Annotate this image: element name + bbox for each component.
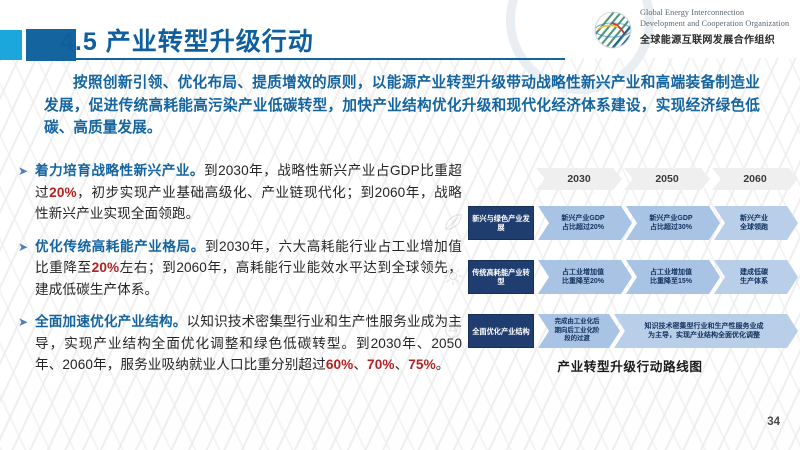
globe-icon — [592, 9, 634, 51]
roadmap-diagram: 2030 2050 2060 新兴与绿色产业发展 新兴产业GDP占比超过20% … — [462, 168, 798, 368]
year-chevron-2030: 2030 — [536, 168, 622, 190]
gear-icon — [442, 265, 464, 287]
bullet-marker-icon: ➤ — [18, 312, 28, 332]
bullet-lead: 全面加速优化产业结构。 — [35, 314, 187, 329]
logo-line-2: Development and Cooperation Organization — [640, 19, 792, 30]
bullet-lead: 着力培育战略性新兴产业。 — [35, 163, 204, 178]
roadmap-stage: 新兴产业GDP占比超过30% — [626, 206, 720, 240]
bullet-part-2: 。 — [436, 357, 450, 372]
roadmap-row-1: 新兴与绿色产业发展 新兴产业GDP占比超过20% 新兴产业GDP占比超过30% … — [462, 206, 798, 240]
page-title: 4.5 产业转型升级行动 — [60, 22, 314, 58]
list-item: ➤ 着力培育战略性新兴产业。到2030年，战略性新兴产业占GDP比重超过20%，… — [18, 160, 462, 225]
page-number: 34 — [767, 416, 780, 428]
timeline-years: 2030 2050 2060 — [536, 168, 798, 190]
header-square-cyan — [0, 30, 22, 60]
bullet-highlight-1: 20% — [92, 260, 120, 275]
bullet-lead: 优化传统高耗能产业格局。 — [35, 239, 205, 254]
intro-paragraph: 按照创新引领、优化布局、提质增效的原则，以能源产业转型升级带动战略性新兴产业和高… — [44, 72, 760, 140]
roadmap-row-label: 新兴与绿色产业发展 — [468, 206, 534, 240]
roadmap-row-2: 传统高耗能产业转型 占工业增加值比重降至20% 占工业增加值比重降至15% 建成… — [462, 260, 798, 294]
list-item: ➤ 全面加速优化产业结构。以知识技术密集型行业和生产性服务业成为主导，实现产业结… — [18, 311, 462, 376]
roadmap-row-label: 全面优化产业结构 — [468, 314, 534, 348]
bullet-text: 全面加速优化产业结构。以知识技术密集型行业和生产性服务业成为主导，实现产业结构全… — [35, 311, 462, 376]
roadmap-stage: 新兴产业GDP占比超过20% — [538, 206, 632, 240]
roadmap-row-3: 全面优化产业结构 完成由工业化后期向后工业化阶段的过渡 知识技术密集型行业和生产… — [462, 314, 798, 348]
roadmap-stage: 占工业增加值比重降至15% — [626, 260, 720, 294]
slide-header: 4.5 产业转型升级行动 — [0, 0, 800, 62]
year-chevron-2050: 2050 — [624, 168, 710, 190]
bullet-list: ➤ 着力培育战略性新兴产业。到2030年，战略性新兴产业占GDP比重超过20%，… — [18, 160, 462, 387]
bullet-text: 优化传统高耗能产业格局。到2030年，六大高耗能行业占工业增加值比重降至20%左… — [35, 236, 462, 301]
leaf-icon — [442, 211, 464, 233]
roadmap-stage: 新兴产业全球领跑 — [714, 206, 798, 240]
bullet-highlight-1: 20% — [49, 185, 77, 200]
bullet-highlight-1: 60% — [326, 357, 354, 372]
bullet-highlight-2: 70% — [367, 357, 395, 372]
recycle-icon — [442, 319, 464, 341]
roadmap-caption: 产业转型升级行动路线图 — [462, 356, 798, 375]
organization-logo: Global Energy Interconnection Developmen… — [592, 6, 792, 54]
roadmap-stage: 占工业增加值比重降至20% — [538, 260, 632, 294]
logo-chinese-name: 全球能源互联网发展合作组织 — [640, 31, 792, 46]
header-underline — [60, 58, 565, 60]
bullet-separator-1: 、 — [353, 357, 367, 372]
bullet-marker-icon: ➤ — [18, 237, 28, 257]
roadmap-stage: 完成由工业化后期向后工业化阶段的过渡 — [538, 314, 620, 348]
year-chevron-2060: 2060 — [712, 168, 798, 190]
bullet-part-2: ，初步实现产业基础高级化、产业链现代化；到2060年，战略性新兴产业实现全面领跑… — [35, 185, 462, 222]
bullet-marker-icon: ➤ — [18, 161, 28, 181]
list-item: ➤ 优化传统高耗能产业格局。到2030年，六大高耗能行业占工业增加值比重降至20… — [18, 236, 462, 301]
roadmap-stage: 建成低碳生产体系 — [714, 260, 798, 294]
roadmap-stage: 知识技术密集型行业和生产性服务业成为主导，实现产业结构全面优化调整 — [614, 314, 798, 348]
bullet-text: 着力培育战略性新兴产业。到2030年，战略性新兴产业占GDP比重超过20%，初步… — [35, 160, 462, 225]
bullet-highlight-3: 75% — [408, 357, 436, 372]
logo-line-1: Global Energy Interconnection — [640, 8, 792, 19]
bullet-separator-2: 、 — [395, 357, 409, 372]
slide-canvas: 4.5 产业转型升级行动 — [0, 0, 800, 450]
roadmap-row-label: 传统高耗能产业转型 — [468, 260, 534, 294]
